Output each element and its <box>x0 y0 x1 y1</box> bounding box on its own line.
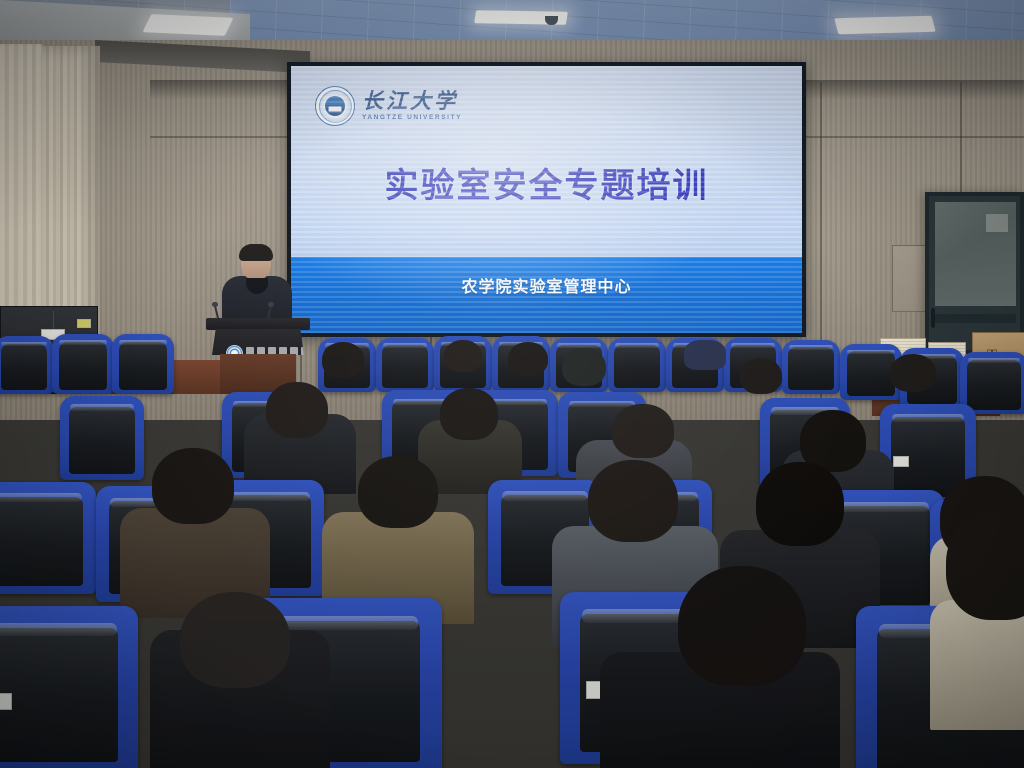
university-seal-icon <box>315 86 355 126</box>
seat[interactable] <box>52 334 114 394</box>
slide-logo: 长江大学 YANGTZE UNIVERSITY <box>315 86 462 126</box>
seat[interactable] <box>60 396 144 480</box>
microphone-head-icon <box>268 302 274 307</box>
slide-subtitle: 农学院实验室管理中心 <box>461 273 631 297</box>
microphone-head-icon <box>212 302 218 307</box>
door-sign <box>986 214 1008 232</box>
seat[interactable] <box>0 606 138 768</box>
ceiling-light-panel-icon <box>834 16 936 35</box>
seat[interactable] <box>112 334 174 394</box>
window-curtain <box>0 44 42 344</box>
seat[interactable] <box>608 338 666 392</box>
slide-logo-text: 长江大学 YANGTZE UNIVERSITY <box>362 91 462 122</box>
projection-screen: 长江大学 YANGTZE UNIVERSITY 实验室安全专题培训 农学院实验室… <box>291 66 802 333</box>
door-handle[interactable] <box>931 308 935 328</box>
slide-subtitle-band: 农学院实验室管理中心 <box>291 257 802 333</box>
cabinet-label <box>77 319 91 328</box>
wall-access-panel <box>892 245 926 312</box>
slide-title: 实验室安全专题培训 <box>291 158 802 207</box>
university-name-cn: 长江大学 <box>362 91 462 112</box>
seat[interactable] <box>0 482 96 594</box>
seal-ring <box>319 90 352 123</box>
door-rail <box>933 314 1016 323</box>
lectern-top <box>206 318 310 330</box>
university-name-en: YANGTZE UNIVERSITY <box>362 115 462 122</box>
glasses-icon <box>243 260 269 266</box>
presenter-hair <box>239 244 273 261</box>
lecture-hall-photo: 长江大学 YANGTZE UNIVERSITY 实验室安全专题培训 农学院实验室… <box>0 0 1024 768</box>
ceiling-light-panel-icon <box>143 14 234 36</box>
seat[interactable] <box>376 338 434 392</box>
seat[interactable] <box>782 340 840 394</box>
audience-seating <box>0 330 1024 768</box>
projection-screen-frame: 长江大学 YANGTZE UNIVERSITY 实验室安全专题培训 农学院实验室… <box>287 62 806 337</box>
seat[interactable] <box>0 336 54 394</box>
